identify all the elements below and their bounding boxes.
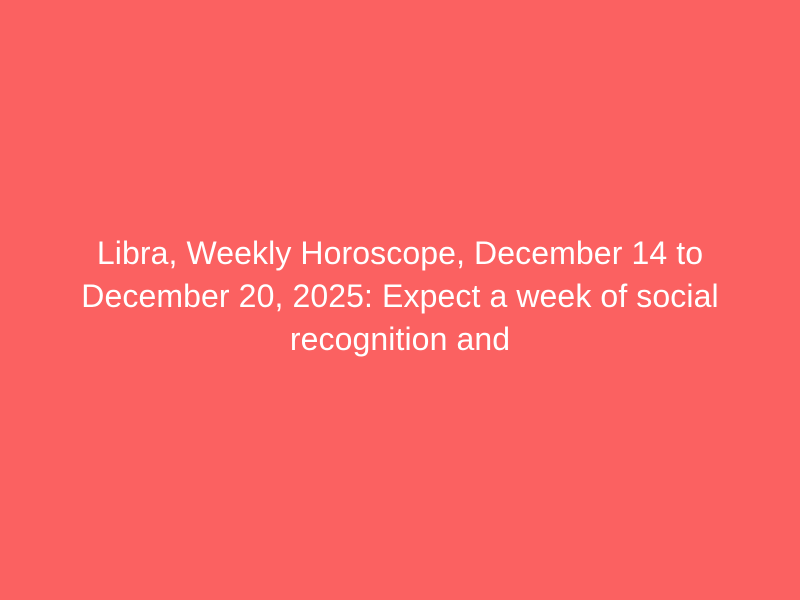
headline-text-block: Libra, Weekly Horoscope, December 14 to … <box>50 232 750 361</box>
headline-card: Libra, Weekly Horoscope, December 14 to … <box>0 0 800 600</box>
page-title: Libra, Weekly Horoscope, December 14 to … <box>50 232 750 361</box>
